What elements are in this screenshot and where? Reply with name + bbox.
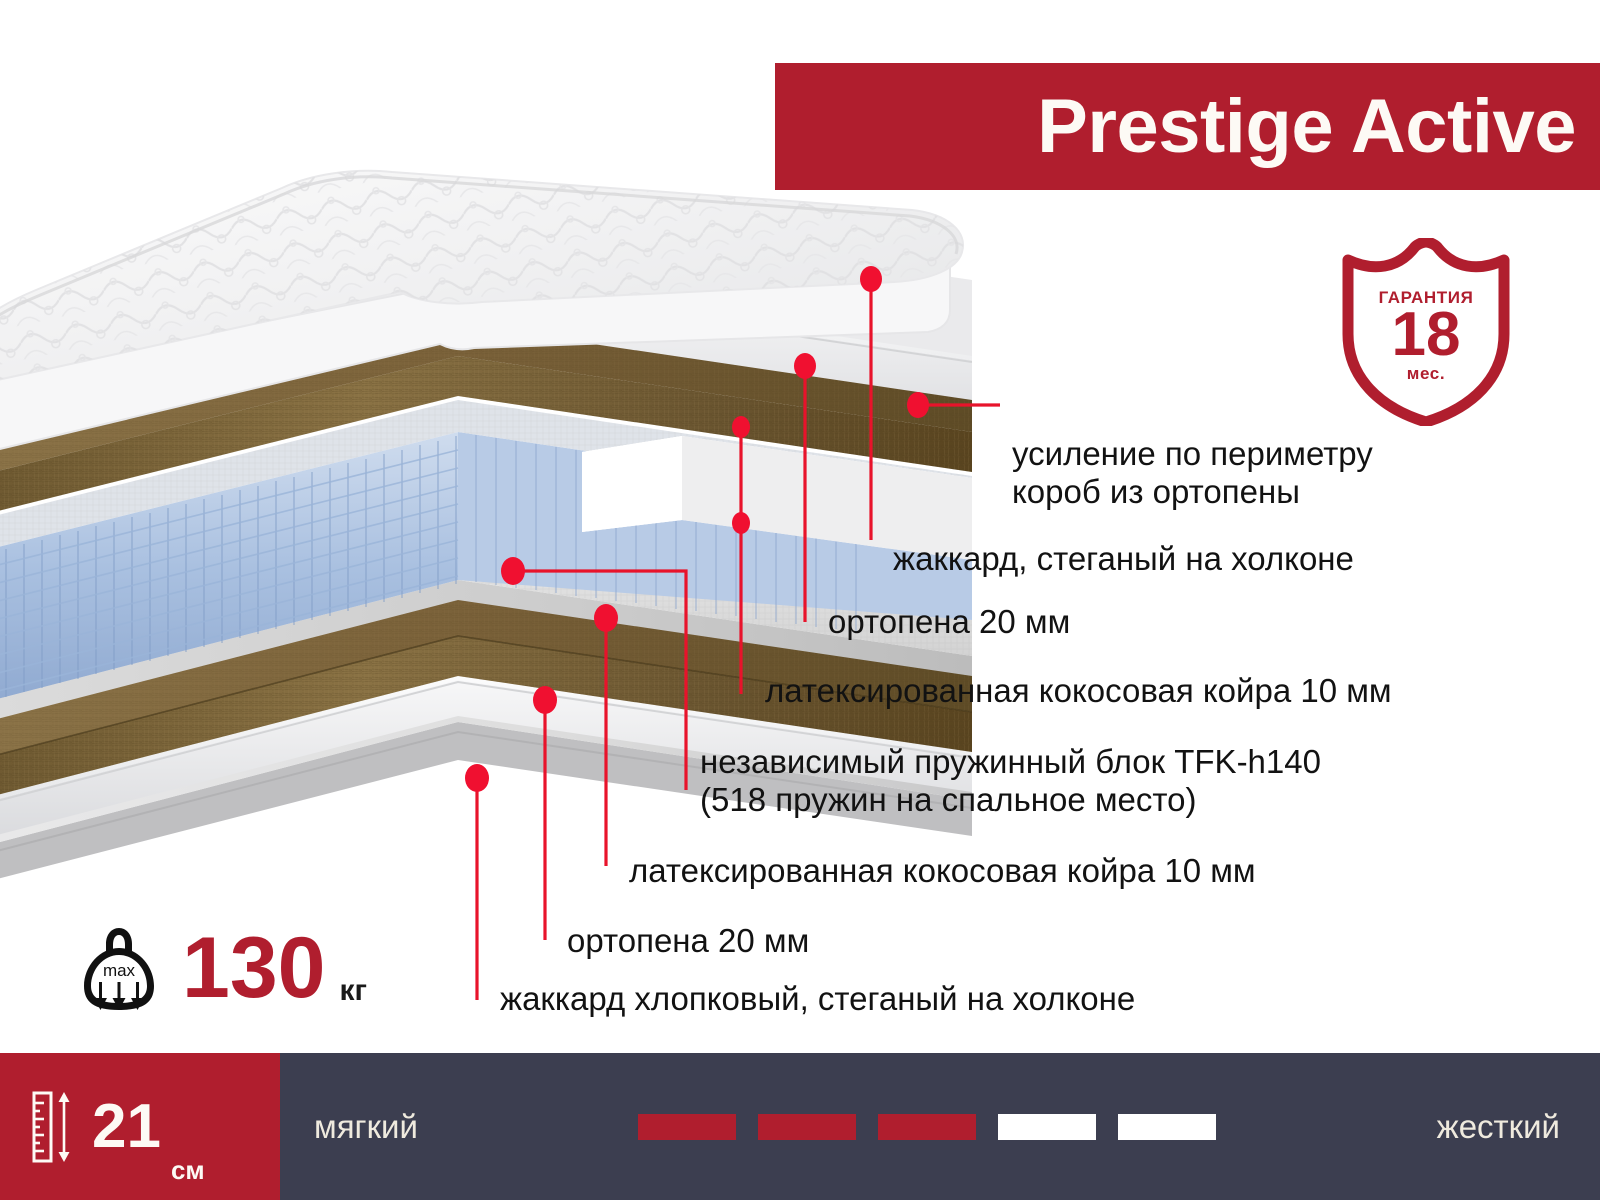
- callout-perimeter-line2: короб из ортопены: [1012, 473, 1373, 511]
- height-value: 21: [92, 1096, 161, 1158]
- max-load-badge: max 130 кг: [78, 915, 438, 1020]
- page-title: Prestige Active: [1037, 89, 1576, 165]
- callout-perimeter: усиление по периметру короб из ортопены: [1012, 435, 1373, 510]
- bottom-spec-bar: 21 см мягкий жесткий: [0, 1053, 1600, 1200]
- callout-spring-block: независимый пружинный блок TFK-h140 (518…: [700, 743, 1321, 818]
- firmness-scale: [638, 1114, 1216, 1140]
- callout-bottom-cover-line1: жаккард хлопковый, стеганый на холконе: [500, 981, 1135, 1018]
- firmness-spec: мягкий жесткий: [280, 1053, 1600, 1200]
- firmness-segment-5: [1118, 1114, 1216, 1140]
- callout-ortofoam-top-line1: ортопена 20 мм: [828, 604, 1070, 641]
- shield-icon: [1338, 238, 1514, 426]
- callout-coir-top-line1: латексированная кокосовая койра 10 мм: [765, 673, 1392, 710]
- callout-ortofoam-bottom: ортопена 20 мм: [567, 923, 809, 960]
- callout-bottom-cover: жаккард хлопковый, стеганый на холконе: [500, 981, 1135, 1018]
- height-unit: см: [171, 1155, 205, 1186]
- firmness-segment-2: [758, 1114, 856, 1140]
- ruler-icon: [32, 1090, 76, 1164]
- callout-coir-top: латексированная кокосовая койра 10 мм: [765, 673, 1392, 710]
- firmness-segment-4: [998, 1114, 1096, 1140]
- firmness-segment-3: [878, 1114, 976, 1140]
- max-load-unit: кг: [340, 974, 368, 1008]
- height-spec: 21 см: [0, 1053, 280, 1200]
- callout-spring-block-line1: независимый пружинный блок TFK-h140: [700, 743, 1321, 781]
- callout-ortofoam-bottom-line1: ортопена 20 мм: [567, 923, 809, 960]
- kettlebell-max-label: max: [103, 961, 136, 980]
- callout-coir-bottom-line1: латексированная кокосовая койра 10 мм: [629, 853, 1256, 890]
- callout-top-cover: жаккард, стеганый на холконе: [893, 541, 1354, 578]
- callout-coir-bottom: латексированная кокосовая койра 10 мм: [629, 853, 1256, 890]
- warranty-badge: ГАРАНТИЯ 18 мес.: [1338, 238, 1514, 426]
- max-load-value: 130: [182, 925, 326, 1011]
- callout-perimeter-line1: усиление по периметру: [1012, 435, 1373, 473]
- firmness-segment-1: [638, 1114, 736, 1140]
- firmness-soft-label: мягкий: [314, 1110, 418, 1143]
- callout-ortofoam-top: ортопена 20 мм: [828, 604, 1070, 641]
- kettlebell-icon: max: [78, 922, 160, 1014]
- firmness-hard-label: жесткий: [1437, 1110, 1560, 1143]
- infographic-root: Prestige Active ГАРАНТИЯ 18 мес.: [0, 0, 1600, 1200]
- callout-top-cover-line1: жаккард, стеганый на холконе: [893, 541, 1354, 578]
- callout-spring-block-line2: (518 пружин на спальное место): [700, 781, 1321, 819]
